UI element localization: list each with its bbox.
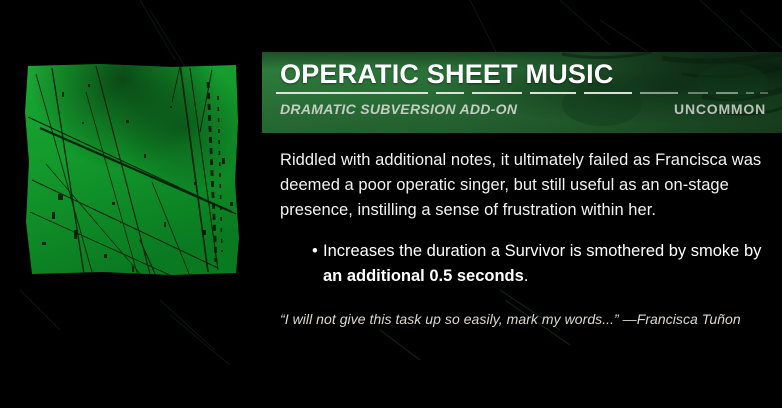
rarity-label: UNCOMMON xyxy=(674,101,766,117)
addon-parent-label: DRAMATIC SUBVERSION ADD-ON xyxy=(280,101,517,117)
effect-text-after: . xyxy=(524,267,529,285)
operatic-sheet-music-icon[interactable] xyxy=(22,62,246,279)
flavor-quote: “I will not give this task up so easily,… xyxy=(280,309,764,329)
effect-bold-value: an additional 0.5 seconds xyxy=(323,267,524,285)
list-item: •Increases the duration a Survivor is sm… xyxy=(313,239,764,289)
addon-detail-panel: OPERATIC SHEET MUSIC xyxy=(262,0,782,408)
addon-header-banner: OPERATIC SHEET MUSIC xyxy=(262,52,782,133)
bullet-icon: • xyxy=(312,239,318,264)
addon-body: Riddled with additional notes, it ultima… xyxy=(262,133,782,329)
effect-text-mid: smoke by xyxy=(691,242,762,260)
item-description: Riddled with additional notes, it ultima… xyxy=(280,148,764,223)
title-divider xyxy=(276,92,768,94)
effect-text-before: Increases the duration a Survivor is smo… xyxy=(323,242,691,260)
effects-list: •Increases the duration a Survivor is sm… xyxy=(280,239,764,289)
header-content: OPERATIC SHEET MUSIC xyxy=(262,52,782,133)
page-title: OPERATIC SHEET MUSIC xyxy=(280,58,614,90)
item-icon-panel xyxy=(0,0,262,408)
subtitle-row: DRAMATIC SUBVERSION ADD-ON UNCOMMON xyxy=(280,101,766,117)
addon-tooltip-card: OPERATIC SHEET MUSIC xyxy=(0,0,782,408)
